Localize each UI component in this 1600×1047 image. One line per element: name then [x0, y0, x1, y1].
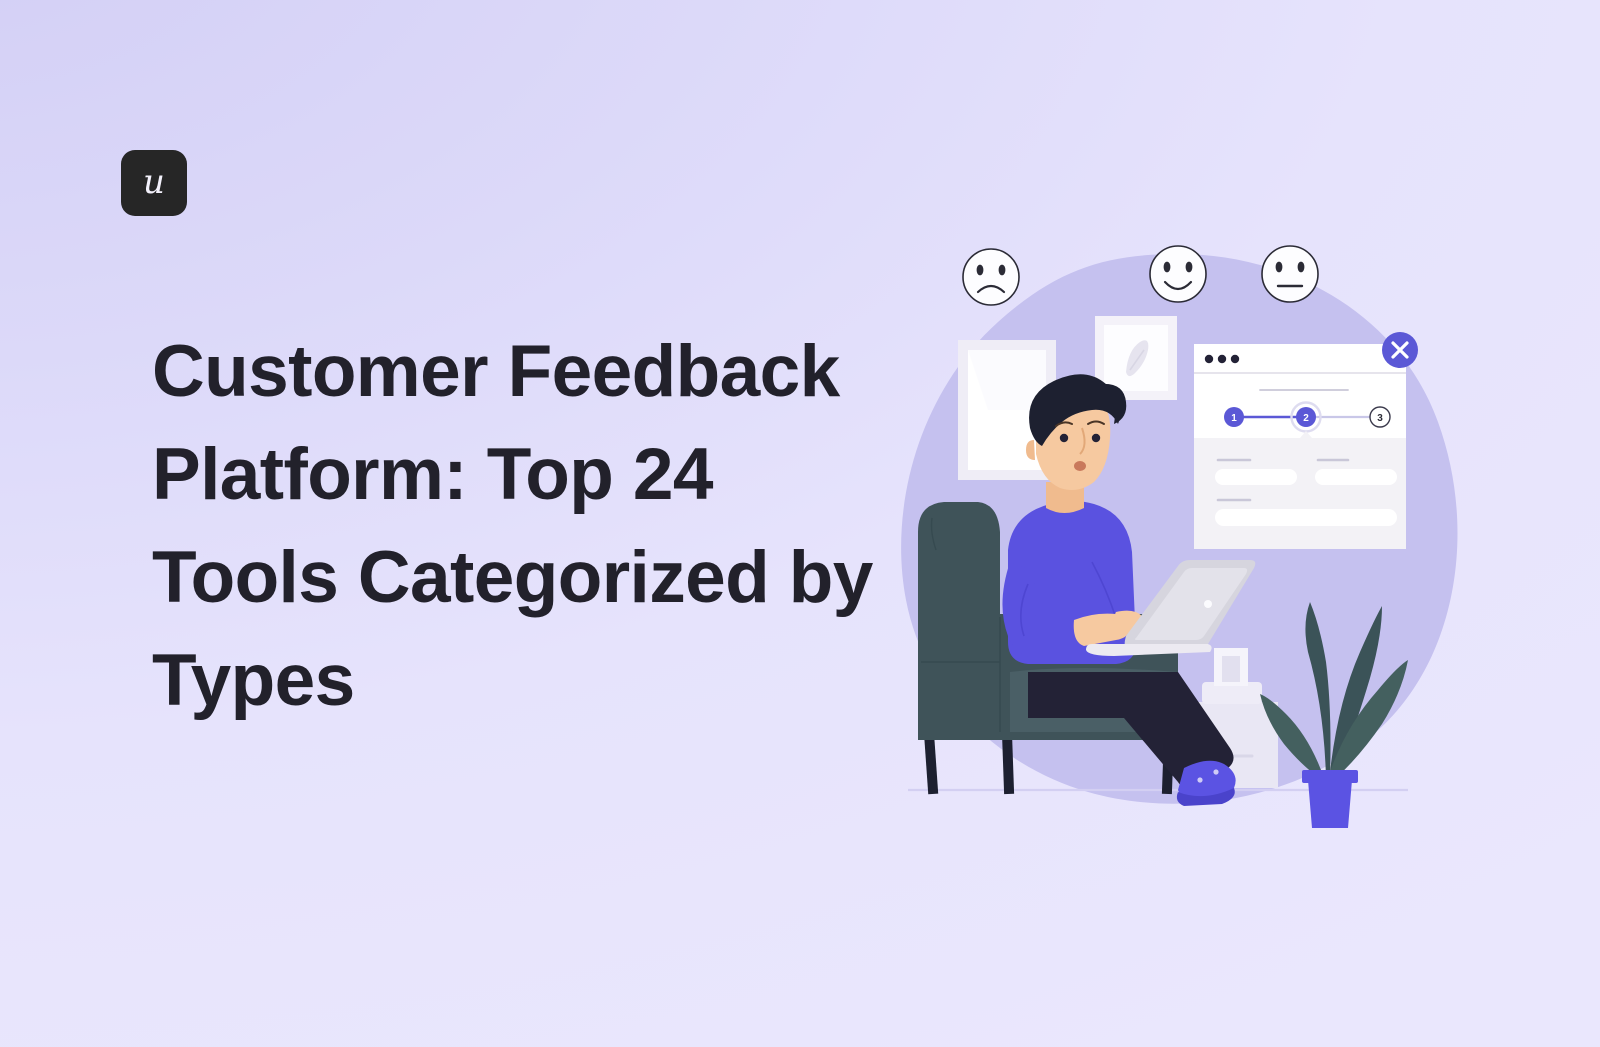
- stepper-step-3: 3: [1370, 407, 1390, 427]
- page-title: Customer Feedback Platform: Top 24 Tools…: [152, 320, 882, 732]
- svg-text:1: 1: [1231, 413, 1237, 424]
- close-button[interactable]: [1382, 332, 1418, 368]
- svg-text:2: 2: [1303, 413, 1309, 424]
- stepper-step-1: 1: [1224, 407, 1244, 427]
- hero-illustration: 1 2 3: [878, 232, 1478, 832]
- svg-text:3: 3: [1377, 413, 1383, 424]
- shoe: [1177, 761, 1236, 806]
- neutral-face-icon: [1262, 246, 1318, 302]
- brand-logo-glyph: u: [143, 165, 165, 199]
- survey-modal-mockup[interactable]: 1 2 3: [1194, 332, 1418, 549]
- brand-logo[interactable]: u: [121, 150, 187, 216]
- sad-face-icon: [963, 249, 1019, 305]
- happy-face-icon: [1150, 246, 1206, 302]
- blog-hero-banner: u Customer Feedback Platform: Top 24 Too…: [0, 0, 1600, 1047]
